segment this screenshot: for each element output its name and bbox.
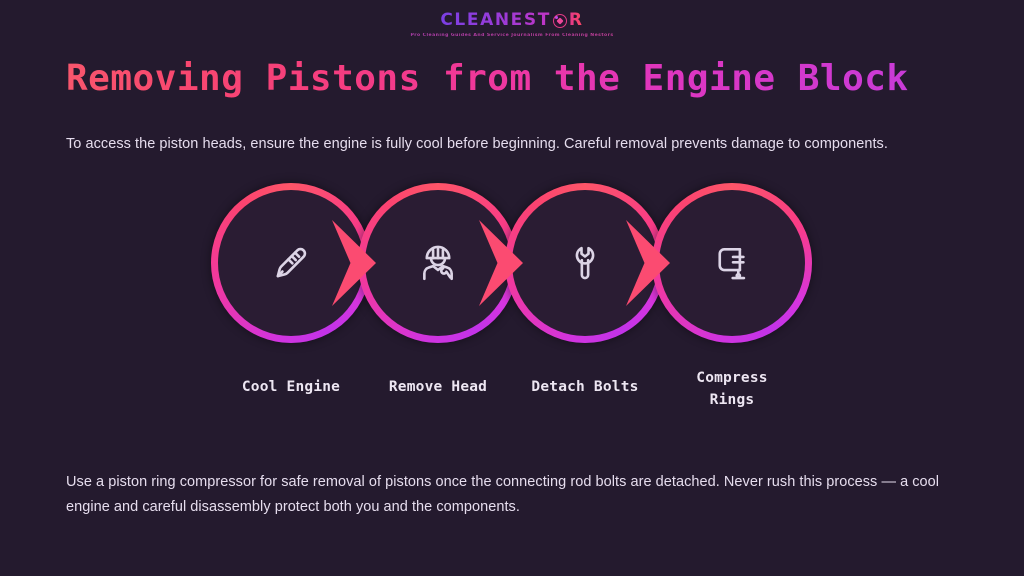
page-title: Removing Pistons from the Engine Block (66, 58, 909, 99)
flow-step-2[interactable] (358, 183, 518, 343)
sparkle-orb-icon (553, 14, 567, 28)
brand-tagline: Pro Cleaning Guides And Service Journali… (0, 33, 1024, 38)
outro-paragraph: Use a piston ring compressor for safe re… (66, 470, 956, 520)
flow-step-label-3: Detach Bolts (528, 376, 642, 398)
thermometer-icon (211, 183, 371, 343)
process-flow (0, 183, 1024, 343)
brand-name-suffix: R (569, 12, 584, 29)
flow-step-label-4: Compress Rings (675, 367, 789, 412)
intro-paragraph: To access the piston heads, ensure the e… (66, 134, 966, 156)
flow-step-3[interactable] (505, 183, 665, 343)
flow-step-label-1: Cool Engine (234, 376, 348, 398)
flow-step-label-2: Remove Head (381, 376, 495, 398)
flow-step-4[interactable] (652, 183, 812, 343)
c-clamp-icon (652, 183, 812, 343)
wrench-icon (505, 183, 665, 343)
flow-labels: Cool Engine Remove Head Detach Bolts Com… (0, 376, 1024, 436)
brand-wordmark: CLEANEST R (440, 12, 583, 29)
brand-name-prefix: CLEANEST (440, 12, 551, 29)
worker-hardhat-wrench-icon (358, 183, 518, 343)
brand-logo[interactable]: CLEANEST R Pro Cleaning Guides And Servi… (0, 12, 1024, 38)
flow-step-1[interactable] (211, 183, 371, 343)
